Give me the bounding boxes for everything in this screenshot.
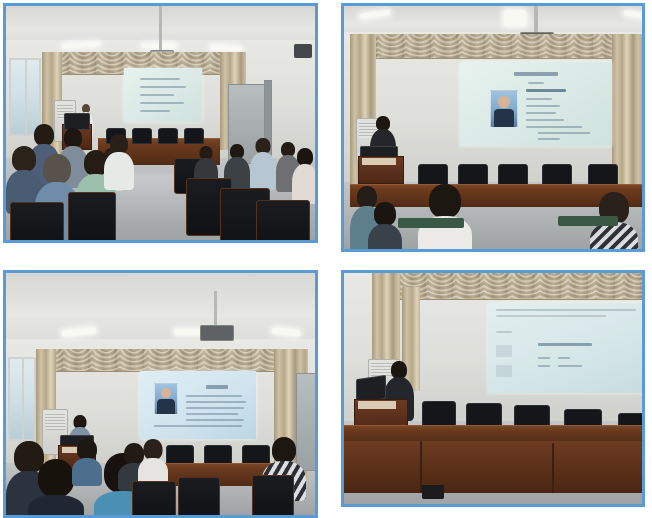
- head: [429, 184, 461, 218]
- photo-image-top-right: [344, 6, 642, 249]
- slide-text-line: [186, 413, 238, 415]
- podium-sign: [358, 401, 396, 409]
- audience-chair: [10, 202, 64, 240]
- podium-sign: [362, 158, 396, 165]
- table-panel-seam: [552, 443, 554, 493]
- slide-text-line: [538, 357, 550, 359]
- audience-member: [368, 202, 402, 249]
- slide-toolbar-line: [496, 315, 606, 317]
- projection-screen: [124, 68, 202, 122]
- table-shadow: [422, 485, 444, 499]
- slide-text-line: [186, 395, 242, 397]
- head: [64, 128, 82, 148]
- slide-text-line: [538, 365, 550, 367]
- wall-speaker: [294, 44, 312, 58]
- slide-title-text: [206, 385, 228, 389]
- slide-field-line: [538, 138, 560, 140]
- head: [43, 154, 71, 184]
- slide-field-line: [526, 119, 564, 121]
- slide-text-line: [558, 357, 570, 359]
- slide-text-line: [140, 86, 186, 88]
- slide-field-name: [526, 89, 566, 92]
- slide-portrait-photo: [154, 383, 178, 415]
- slide-heading-text: [538, 343, 592, 346]
- body: [28, 495, 84, 515]
- curtain: [612, 34, 642, 184]
- desk: [398, 218, 464, 228]
- slide-text-line: [186, 401, 246, 403]
- slide-text-line: [186, 407, 244, 409]
- head: [144, 439, 163, 460]
- chair: [158, 128, 178, 144]
- photo-image-top-left: [6, 6, 315, 240]
- slide-text-line: [186, 419, 244, 421]
- head: [12, 146, 36, 172]
- curtain-valance: [36, 349, 308, 372]
- slide-sidebar-line: [496, 345, 512, 357]
- projector-rod: [159, 6, 162, 51]
- slide-text-line: [140, 110, 170, 112]
- slide-sidebar-line: [496, 331, 512, 333]
- head: [34, 124, 54, 146]
- audience-member: [292, 148, 315, 204]
- slide-field-line: [526, 98, 552, 100]
- ceiling: [6, 273, 315, 343]
- slide-field-line: [526, 112, 556, 114]
- ceiling-light: [174, 329, 202, 335]
- projector-rod: [214, 291, 217, 327]
- body: [590, 222, 638, 249]
- slide-field-line: [526, 126, 582, 128]
- audience-member: [104, 134, 134, 188]
- head: [272, 437, 296, 463]
- audience-chair: [252, 475, 294, 515]
- window: [8, 357, 36, 441]
- body: [104, 152, 134, 190]
- head: [77, 439, 97, 460]
- head: [374, 202, 396, 226]
- audience-member: [250, 138, 276, 190]
- body: [250, 152, 276, 190]
- head: [38, 459, 74, 497]
- photo-grid-page: [0, 0, 652, 518]
- audience-member: [418, 184, 472, 249]
- slide-title-text: [514, 72, 558, 76]
- audience-chair: [178, 477, 220, 515]
- audience-member: [72, 439, 102, 483]
- body: [292, 164, 315, 204]
- slide-text-line: [140, 78, 180, 80]
- curtain-valance: [350, 34, 642, 59]
- projection-screen: [140, 371, 256, 439]
- photo-image-bottom-right: [344, 273, 642, 504]
- conference-table-front: [344, 441, 642, 493]
- slide-field-line: [538, 132, 590, 134]
- desk: [558, 216, 618, 226]
- slide-text-line: [140, 94, 174, 96]
- audience-member: [138, 439, 168, 487]
- ceiling-projector: [200, 325, 234, 341]
- slide-text-line: [558, 365, 582, 367]
- body: [72, 458, 102, 486]
- photo-frame-top-right[interactable]: [341, 3, 645, 252]
- projection-screen: [460, 62, 612, 146]
- head: [110, 134, 128, 154]
- chair: [184, 128, 204, 144]
- slide-text-line: [140, 102, 184, 104]
- slide-field-line: [526, 105, 560, 107]
- ceiling-light: [504, 10, 526, 26]
- audience-chair: [256, 200, 310, 240]
- slide-toolbar-line: [496, 309, 636, 311]
- photo-frame-bottom-left[interactable]: [3, 270, 318, 518]
- photo-image-bottom-left: [6, 273, 315, 515]
- body: [368, 224, 402, 249]
- projection-screen: [488, 303, 642, 393]
- slide-subtitle-text: [528, 82, 544, 84]
- slide-text-line: [154, 425, 242, 427]
- photo-frame-top-left[interactable]: [3, 3, 318, 243]
- chair: [132, 128, 152, 144]
- audience-chair: [68, 192, 116, 240]
- projector-rod: [534, 6, 538, 34]
- audience-chair: [132, 481, 176, 515]
- slide-portrait-photo: [490, 90, 518, 128]
- slide-sidebar-line: [496, 365, 512, 377]
- photo-frame-bottom-right[interactable]: [341, 270, 645, 507]
